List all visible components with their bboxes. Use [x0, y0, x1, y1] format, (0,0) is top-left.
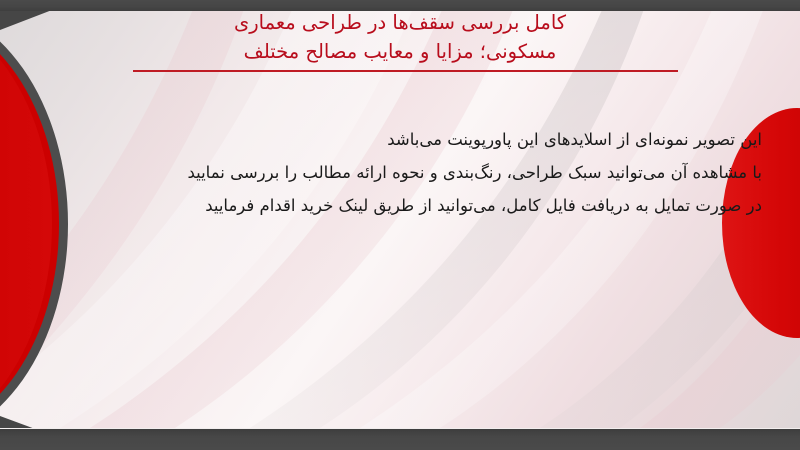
- slide-body-block: این تصویر نمونه‌ای از اسلایدهای این پاور…: [60, 123, 770, 222]
- slide-title-block: کامل بررسی سقف‌ها در طراحی معماری مسکونی…: [0, 8, 800, 66]
- frame-band-top: [0, 0, 800, 11]
- body-line-2: با مشاهده آن می‌توانید سبک طراحی، رنگ‌بن…: [60, 156, 770, 189]
- presentation-slide: کامل بررسی سقف‌ها در طراحی معماری مسکونی…: [0, 0, 800, 450]
- frame-band-bottom: [0, 428, 800, 450]
- slide-title: کامل بررسی سقف‌ها در طراحی معماری مسکونی…: [120, 8, 680, 66]
- body-line-3: در صورت تمایل به دریافت فایل کامل، می‌تو…: [60, 189, 770, 222]
- title-underline-rule: [133, 70, 678, 72]
- body-line-1: این تصویر نمونه‌ای از اسلایدهای این پاور…: [60, 123, 770, 156]
